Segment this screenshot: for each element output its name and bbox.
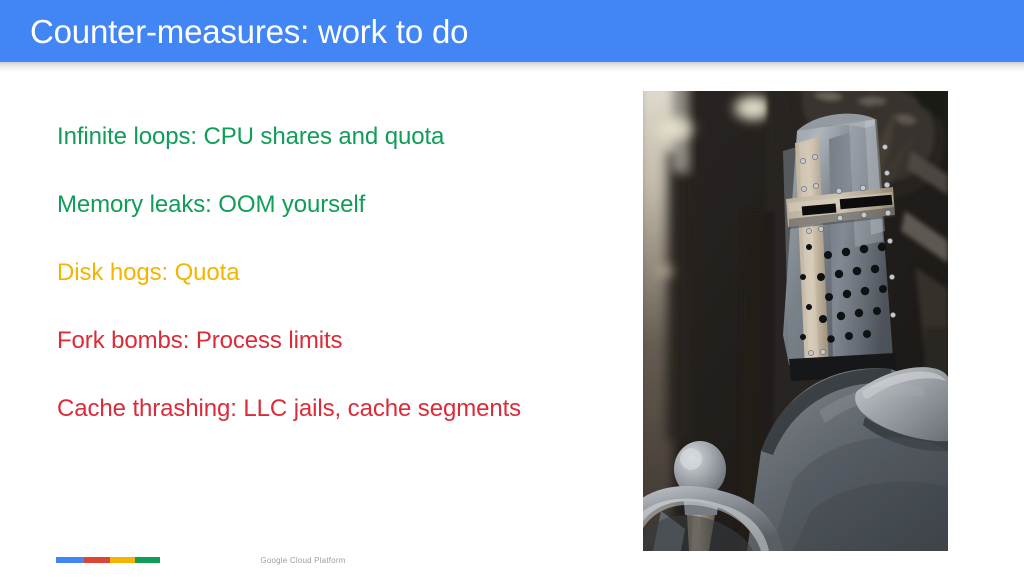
list-item: Fork bombs: Process limits	[57, 329, 617, 364]
list-item: Cache thrashing: LLC jails, cache segmen…	[57, 397, 617, 432]
photo-illustration	[643, 91, 948, 551]
bullet-list: Infinite loops: CPU shares and quota Mem…	[57, 125, 617, 465]
knight-helmet-armor-photo	[643, 91, 948, 551]
slide-title-bar: Counter-measures: work to do	[0, 0, 1024, 62]
list-item: Disk hogs: Quota	[57, 261, 617, 296]
page-title: Counter-measures: work to do	[30, 15, 468, 48]
list-item: Infinite loops: CPU shares and quota	[57, 125, 617, 160]
list-item: Memory leaks: OOM yourself	[57, 193, 617, 228]
title-bar-shadow	[0, 62, 1024, 73]
footer-brand: Google Cloud Platform	[0, 556, 1024, 565]
